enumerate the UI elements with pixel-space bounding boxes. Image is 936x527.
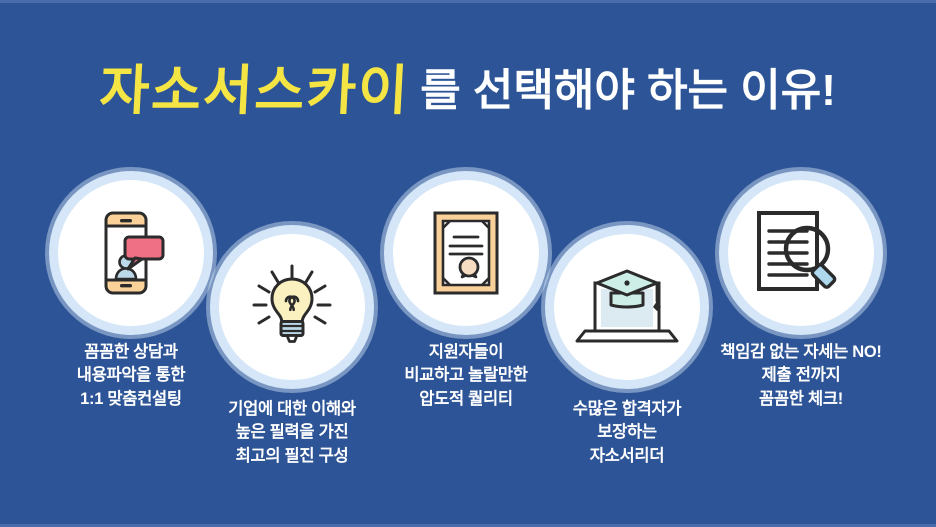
top-edge-strip <box>0 0 936 3</box>
feature-circle-1 <box>58 180 204 326</box>
caption-line: 제출 전까지 <box>676 364 926 387</box>
caption-line: 비교하고 놀랄만한 <box>341 364 591 387</box>
caption-line: 지원자들이 <box>341 341 591 364</box>
caption-line: 책임감 없는 자세는 NO! <box>676 341 926 364</box>
title-brand-text: 자소서스카이 <box>98 46 412 125</box>
caption-line: 최고의 필진 구성 <box>167 445 417 468</box>
feature-caption-5: 책임감 없는 자세는 NO! 제출 전까지 꼼꼼한 체크! <box>676 341 926 411</box>
caption-line: 꼼꼼한 상담과 <box>6 341 256 364</box>
caption-line: 높은 필력을 가진 <box>167 421 417 444</box>
caption-line: 내용파악을 통한 <box>6 364 256 387</box>
caption-line: 꼼꼼한 체크! <box>676 388 926 411</box>
caption-line: 자소서리더 <box>502 445 752 468</box>
lightbulb-icon <box>248 264 336 350</box>
certificate-icon <box>432 210 500 296</box>
feature-circle-5 <box>728 180 874 326</box>
caption-line: 보장하는 <box>502 421 752 444</box>
laptop-graduation-cap-icon <box>575 263 679 351</box>
title-rest-text: 를 선택해야 하는 이유! <box>420 54 836 118</box>
document-magnifier-icon <box>755 209 847 297</box>
feature-circle-3 <box>393 180 539 326</box>
page-title: 자소서스카이를 선택해야 하는 이유! <box>0 46 936 125</box>
smartphone-chat-icon <box>92 209 170 297</box>
